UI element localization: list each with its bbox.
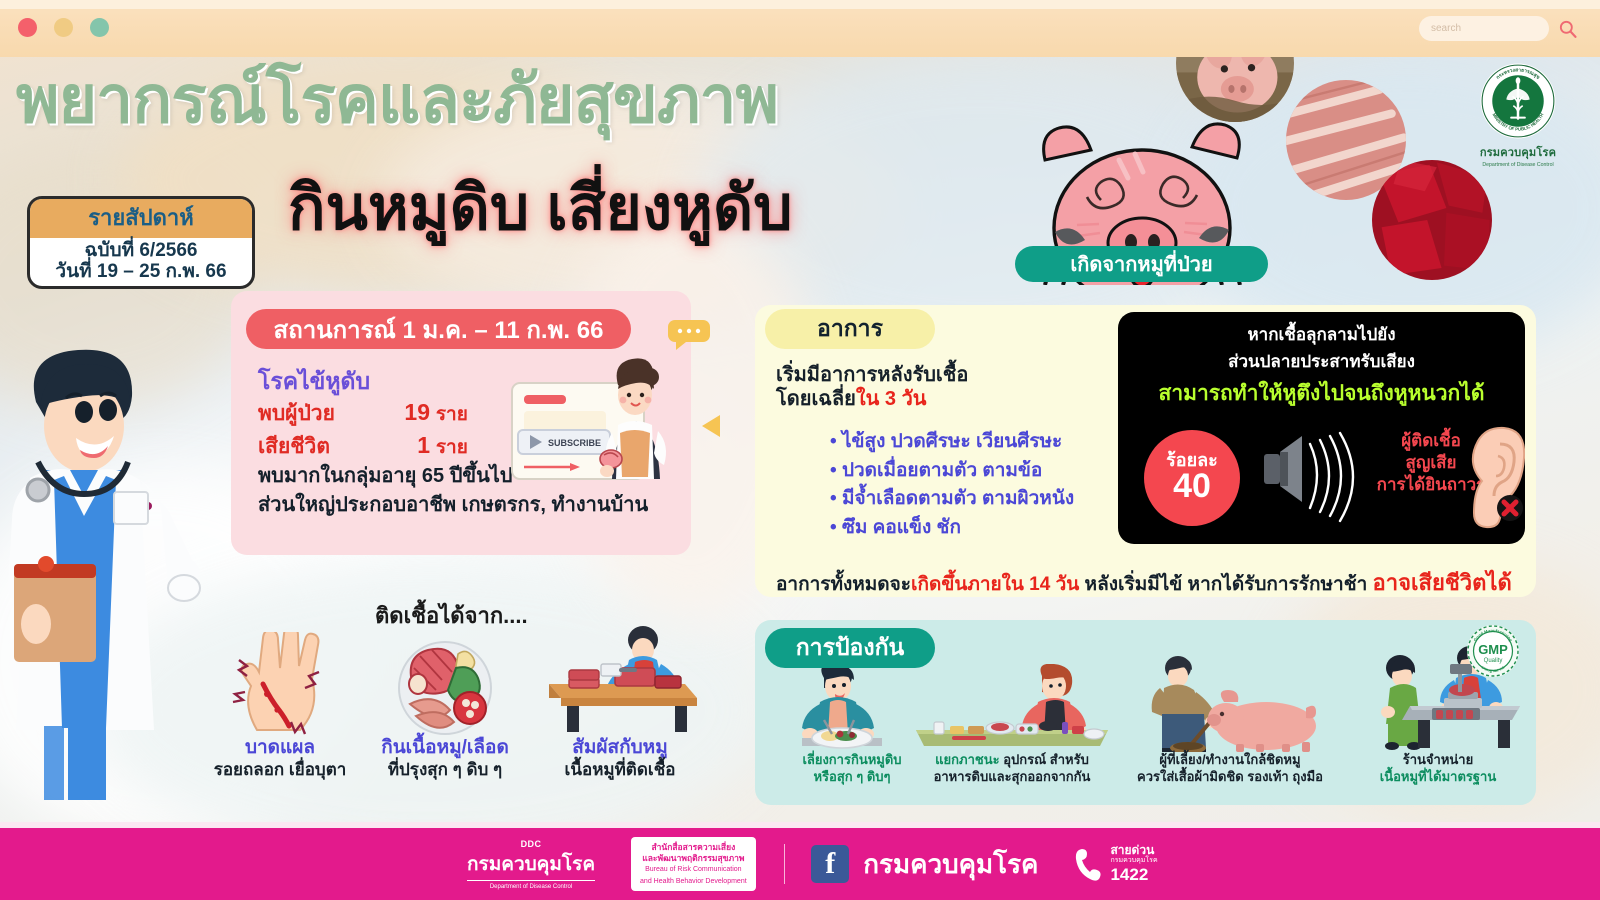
moph-name-th: กรมควบคุมโรค <box>1464 143 1572 161</box>
prevention-caption-2-line2: อาหารดิบและสุกออกจากกัน <box>912 769 1112 786</box>
facebook-page-name[interactable]: กรมควบคุมโรค <box>863 844 1038 885</box>
moph-logo: กระทรวงสาธารณสุข MINISTRY OF PUBLIC HEAL… <box>1464 62 1572 168</box>
prevention-item-2: แยกภาชนะ อุปกรณ์ สำหรับ อาหารดิบและสุกออ… <box>912 664 1112 786</box>
ddc-name-en: Department of Disease Control <box>467 884 595 890</box>
window-controls[interactable] <box>18 18 109 37</box>
transmission-cap-3: สัมผัสกับหมู <box>535 737 705 760</box>
moph-seal-icon: กระทรวงสาธารณสุข MINISTRY OF PUBLIC HEAL… <box>1479 62 1557 140</box>
weekly-issue-badge: รายสัปดาห์ ฉบับที่ 6/2566 วันที่ 19 – 25… <box>27 196 255 289</box>
facebook-icon[interactable]: f <box>811 845 849 883</box>
symptoms-list: ไข้สูง ปวดศีรษะ เวียนศีรษะ ปวดเมื่อยตามต… <box>830 428 1074 542</box>
moph-name-en: Department of Disease Control <box>1464 162 1572 168</box>
ddc-name-th: กรมควบคุมโรค <box>467 849 595 881</box>
ddc-logo: DDC กรมควบคุมโรค Department of Disease C… <box>467 839 595 890</box>
hearing-line-1: หากเชื้อลุกลามไปยัง <box>1118 321 1525 348</box>
wounded-hand-icon <box>205 632 355 737</box>
hearing-line-3: สามารถทำให้หูตึงไปจนถึงหูหนวกได้ <box>1118 377 1525 410</box>
prevention-caption-4-line1: ร้านจำหน่าย <box>1348 752 1528 769</box>
hotline-label: สายด่วน <box>1110 844 1157 857</box>
symptoms-lead-line2: โดยเฉลี่ยใน 3 วัน <box>776 388 968 412</box>
footer-bar: DDC กรมควบคุมโรค Department of Disease C… <box>0 828 1600 900</box>
raw-blood-photo <box>1372 160 1492 280</box>
hotline-org: กรมควบคุมโรค <box>1110 857 1157 865</box>
maximize-window-dot[interactable] <box>90 18 109 37</box>
transmission-item-contact: สัมผัสกับหมู เนื้อหมูที่ติดเชื้อ <box>535 620 705 780</box>
bureau-en-2: and Health Behavior Development <box>640 878 747 886</box>
hearing-loss-box: หากเชื้อลุกลามไปยัง ส่วนปลายประสาทรับเสี… <box>1118 312 1525 544</box>
svg-text:Quality: Quality <box>1484 658 1503 664</box>
bureau-en-1: Bureau of Risk Communication <box>640 866 747 874</box>
search-icon[interactable] <box>1558 19 1578 39</box>
issue-number: ฉบับที่ 6/2566 <box>30 238 252 261</box>
svg-text:SUBSCRIBE: SUBSCRIBE <box>548 438 601 448</box>
separate-utensils-icon <box>912 664 1112 752</box>
close-window-dot[interactable] <box>18 18 37 37</box>
bureau-logo: สำนักสื่อสารความเสี่ยง และพัฒนาพฤติกรรมส… <box>631 837 756 891</box>
hearing-line-2: ส่วนปลายประสาทรับเสียง <box>1118 348 1525 375</box>
bureau-th-1: สำนักสื่อสารความเสี่ยง <box>640 842 747 853</box>
hotline-block[interactable]: สายด่วน กรมควบคุมโรค 1422 <box>1074 844 1157 884</box>
transmission-item-eating: กินเนื้อหมู/เลือด ที่ปรุงสุก ๆ ดิบ ๆ <box>370 632 520 780</box>
prevention-caption-2: แยกภาชนะ อุปกรณ์ สำหรับ อาหารดิบและสุกออ… <box>912 752 1112 786</box>
list-item: ไข้สูง ปวดศีรษะ เวียนศีรษะ <box>830 428 1074 457</box>
pig-badge: เกิดจากหมูที่ป่วย <box>1015 246 1268 282</box>
raw-blood-photo-art <box>1372 160 1492 280</box>
weekly-label: รายสัปดาห์ <box>30 199 252 238</box>
minimize-window-dot[interactable] <box>54 18 73 37</box>
main-headline: กินหมูดิบ เสี่ยงหูดับ <box>288 178 793 240</box>
list-item: ซึม คอแข็ง ชัก <box>830 514 1074 543</box>
list-item: มีจ้ำเลือดตามตัว ตามผิวหนัง <box>830 485 1074 514</box>
woman-subscribe-illustration: SUBSCRIBE <box>508 355 683 485</box>
situation-note-occupation: ส่วนใหญ่ประกอบอาชีพ เกษตรกร, ทำงานบ้าน <box>258 491 648 520</box>
symptoms-warning: อาการทั้งหมดจะเกิดขึ้นภายใน 14 วัน หลังเ… <box>776 565 1512 600</box>
list-item: ปวดเมื่อยตามตัว ตามข้อ <box>830 457 1074 486</box>
page-title: พยากรณ์โรคและภัยสุขภาพ <box>16 66 778 132</box>
pig-farmer-icon <box>1130 650 1330 752</box>
raw-pork-plate-icon <box>370 632 520 737</box>
transmission-sub-2: ที่ปรุงสุก ๆ ดิบ ๆ <box>370 760 520 780</box>
butcher-table-icon <box>535 620 705 737</box>
transmission-cap-2: กินเนื้อหมู/เลือด <box>370 737 520 760</box>
infographic-page: พยากรณ์โรคและภัยสุขภาพ <box>0 0 1600 900</box>
transmission-sub-1: รอยถลอก เยื่อบุตา <box>205 760 355 780</box>
transmission-item-wound: บาดแผล รอยถลอก เยื่อบุตา <box>205 632 355 780</box>
prevention-caption-3: ผู้ที่เลี้ยง/ทำงานใกล้ชิดหมู ควรใส่เสื้อ… <box>1130 752 1330 786</box>
gmp-quality-badge: Good Manufacturing มาตรฐานสากล GMP Quali… <box>1466 624 1520 678</box>
symptoms-title-pill: อาการ <box>765 309 935 349</box>
prevention-caption-2-line1: แยกภาชนะ อุปกรณ์ สำหรับ <box>912 752 1112 769</box>
footer-divider <box>784 844 786 884</box>
browser-chrome <box>0 0 1600 57</box>
pointer-arrow-icon <box>700 413 722 444</box>
hotline-number: 1422 <box>1110 865 1157 884</box>
prevention-caption-4-line2: เนื้อหมูที่ได้มาตรฐาน <box>1348 769 1528 786</box>
prevention-caption-4: ร้านจำหน่าย เนื้อหมูที่ได้มาตรฐาน <box>1348 752 1528 786</box>
prevention-caption-3-line2: ควรใส่เสื้อผ้ามิดชิด รองเท้า ถุงมือ <box>1130 769 1330 786</box>
ear-icon <box>1470 424 1525 529</box>
issue-dates: วันที่ 19 – 25 ก.พ. 66 <box>30 261 252 285</box>
prevention-caption-3-line1: ผู้ที่เลี้ยง/ทำงานใกล้ชิดหมู <box>1130 752 1330 769</box>
ellipsis-speech-bubble-icon <box>668 320 710 350</box>
percent-badge: ร้อยละ 40 <box>1144 430 1240 526</box>
search-area[interactable] <box>1419 16 1578 41</box>
transmission-title: ติดเชื้อได้จาก.... <box>375 598 528 633</box>
bureau-th-2: และพัฒนาพฤติกรรมสุขภาพ <box>640 853 747 864</box>
percent-value: 40 <box>1173 469 1211 505</box>
symptoms-lead-line1: เริ่มมีอาการหลังรับเชื้อ <box>776 364 968 388</box>
svg-text:GMP: GMP <box>1478 642 1508 657</box>
symptoms-lead: เริ่มมีอาการหลังรับเชื้อ โดยเฉลี่ยใน 3 ว… <box>776 364 968 411</box>
phone-icon <box>1074 847 1104 881</box>
prevention-item-3: ผู้ที่เลี้ยง/ทำงานใกล้ชิดหมู ควรใส่เสื้อ… <box>1130 650 1330 786</box>
prevention-title-pill: การป้องกัน <box>765 628 935 668</box>
speaker-sound-waves-icon <box>1258 430 1358 526</box>
situation-title-pill: สถานการณ์ 1 ม.ค. – 11 ก.พ. 66 <box>246 309 631 349</box>
transmission-sub-3: เนื้อหมูที่ติดเชื้อ <box>535 760 705 780</box>
search-input[interactable] <box>1419 16 1549 41</box>
ddc-abbr: DDC <box>467 839 595 849</box>
transmission-cap-1: บาดแผล <box>205 737 355 760</box>
